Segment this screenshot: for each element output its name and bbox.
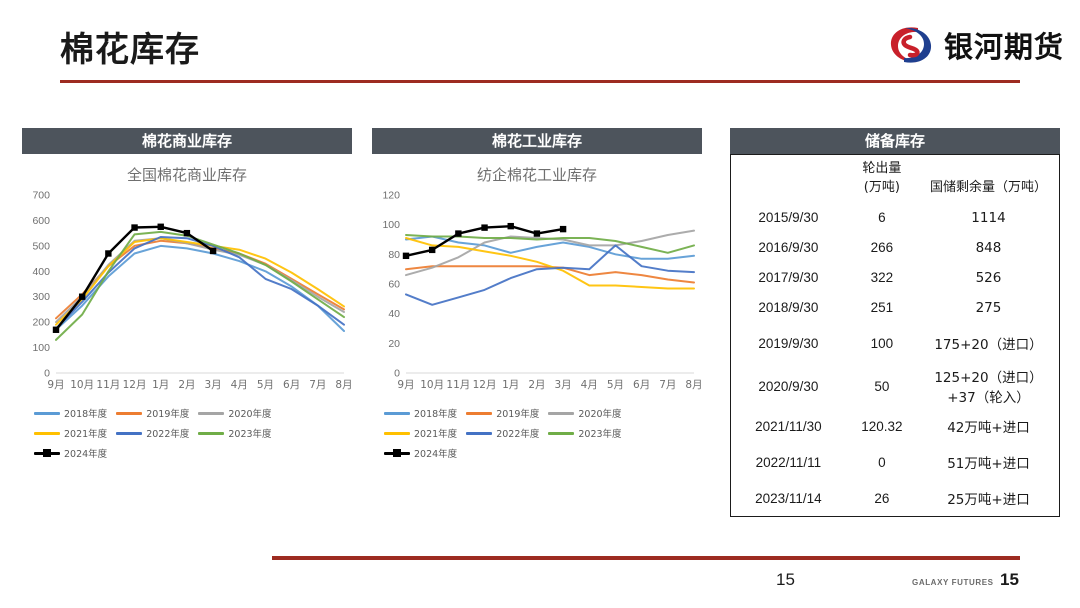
legend-item: 2023年度 — [198, 426, 271, 440]
brand-name: 银河期货 — [944, 24, 1064, 66]
x-axis-tick-label: 8月 — [685, 379, 702, 391]
cell-turnout-volume: 100 — [846, 322, 918, 364]
x-axis-tick-label: 7月 — [309, 379, 326, 391]
y-axis-tick-label: 120 — [382, 190, 400, 202]
y-axis-tick-label: 400 — [32, 266, 50, 278]
table-row: 2022/11/11051万吨+进口 — [731, 444, 1059, 480]
x-axis-tick-label: 10月 — [70, 379, 94, 391]
reserve-table: 轮出量 (万吨) 国储剩余量（万吨） 2015/9/30611142016/9/… — [731, 155, 1059, 516]
page-number-center: 15 — [776, 570, 795, 590]
cell-remaining-reserve: 42万吨+进口 — [918, 408, 1059, 444]
footer-brand-latin: GALAXY FUTURES — [912, 578, 994, 587]
cell-date: 2018/9/30 — [731, 293, 846, 323]
series-marker — [53, 327, 59, 333]
legend-item: 2019年度 — [116, 406, 189, 420]
legend-label: 2018年度 — [414, 406, 457, 420]
panel-reserve-inventory: 储备库存 轮出量 (万吨) 国储剩余量（万吨） 2015/9 — [730, 128, 1060, 517]
series-marker — [105, 250, 111, 256]
series-marker — [184, 230, 190, 236]
legend-swatch-icon — [384, 452, 410, 455]
y-axis-tick-label: 100 — [382, 219, 400, 231]
cell-turnout-volume: 266 — [846, 233, 918, 263]
cell-remaining-line: 848 — [920, 240, 1057, 256]
x-axis-tick-label: 2月 — [528, 379, 545, 391]
legend-item: 2022年度 — [466, 426, 539, 440]
table-row: 2019/9/30100175+20（进口） — [731, 322, 1059, 364]
x-axis-tick-label: 5月 — [607, 379, 624, 391]
cell-remaining-line: +37（轮入） — [920, 386, 1057, 406]
chart-commercial-legend: 2018年度2019年度2020年度2021年度2022年度2023年度2024… — [22, 402, 352, 466]
x-axis-tick-label: 1月 — [152, 379, 169, 391]
cell-turnout-volume: 6 — [846, 203, 918, 233]
cell-date: 2017/9/30 — [731, 263, 846, 293]
chart-industrial-plot: 0204060801001209月10月11月12月1月2月3月4月5月6月7月… — [372, 187, 702, 402]
cell-remaining-reserve: 25万吨+进口 — [918, 480, 1059, 516]
legend-swatch-icon — [34, 452, 60, 455]
legend-item: 2023年度 — [548, 426, 621, 440]
cell-remaining-reserve: 1114 — [918, 203, 1059, 233]
series-marker — [403, 253, 409, 259]
legend-swatch-icon — [384, 412, 410, 415]
series-marker — [79, 294, 85, 300]
x-axis-tick-label: 4月 — [231, 379, 248, 391]
panel-industrial-body: 纺企棉花工业库存 0204060801001209月10月11月12月1月2月3… — [372, 164, 702, 466]
page-number-right: 15 — [1000, 570, 1019, 590]
legend-label: 2021年度 — [414, 426, 457, 440]
legend-swatch-icon — [198, 412, 224, 415]
cell-remaining-reserve: 175+20（进口） — [918, 322, 1059, 364]
legend-label: 2019年度 — [146, 406, 189, 420]
panel-commercial-inventory: 棉花商业库存 全国棉花商业库存 01002003004005006007009月… — [22, 128, 352, 466]
legend-swatch-icon — [34, 412, 60, 415]
x-axis-tick-label: 9月 — [47, 379, 64, 391]
y-axis-tick-label: 100 — [32, 342, 50, 354]
table-row: 2017/9/30322526 — [731, 263, 1059, 293]
cell-remaining-line: 526 — [920, 270, 1057, 286]
legend-swatch-icon — [548, 412, 574, 415]
x-axis-tick-label: 12月 — [123, 379, 147, 391]
legend-label: 2018年度 — [64, 406, 107, 420]
cell-remaining-reserve: 125+20（进口）+37（轮入） — [918, 364, 1059, 408]
legend-swatch-icon — [116, 432, 142, 435]
reserve-table-head: 轮出量 (万吨) 国储剩余量（万吨） — [731, 155, 1059, 203]
x-axis-tick-label: 3月 — [204, 379, 221, 391]
series-marker — [210, 248, 216, 254]
table-row: 2018/9/30251275 — [731, 293, 1059, 323]
cell-date: 2021/11/30 — [731, 408, 846, 444]
legend-label: 2023年度 — [578, 426, 621, 440]
legend-label: 2024年度 — [414, 446, 457, 460]
x-axis-tick-label: 11月 — [446, 379, 470, 391]
chart-commercial-plot: 01002003004005006007009月10月11月12月1月2月3月4… — [22, 187, 352, 402]
col-header-date — [731, 155, 846, 203]
chart-industrial-title: 纺企棉花工业库存 — [372, 164, 702, 185]
legend-swatch-icon — [198, 432, 224, 435]
cell-date: 2020/9/30 — [731, 364, 846, 408]
reserve-table-container: 轮出量 (万吨) 国储剩余量（万吨） 2015/9/30611142016/9/… — [730, 154, 1060, 517]
y-axis-tick-label: 0 — [394, 368, 400, 380]
legend-label: 2020年度 — [228, 406, 271, 420]
col-header-turnout: 轮出量 (万吨) — [846, 155, 918, 203]
cell-remaining-line: 1114 — [920, 210, 1057, 226]
legend-label: 2019年度 — [496, 406, 539, 420]
legend-item: 2021年度 — [384, 426, 457, 440]
col-header-turnout-line1: 轮出量 — [848, 157, 916, 176]
cell-remaining-line: 275 — [920, 300, 1057, 316]
legend-label: 2021年度 — [64, 426, 107, 440]
panel-commercial-body: 全国棉花商业库存 01002003004005006007009月10月11月1… — [22, 164, 352, 466]
series-marker — [508, 223, 514, 229]
cell-turnout-volume: 120.32 — [846, 408, 918, 444]
x-axis-tick-label: 2月 — [178, 379, 195, 391]
cell-turnout-volume: 322 — [846, 263, 918, 293]
legend-swatch-icon — [466, 432, 492, 435]
panel-reserve-body: 轮出量 (万吨) 国储剩余量（万吨） 2015/9/30611142016/9/… — [730, 154, 1060, 517]
x-axis-tick-label: 6月 — [633, 379, 650, 391]
legend-item: 2020年度 — [198, 406, 271, 420]
y-axis-tick-label: 20 — [388, 338, 400, 350]
reserve-table-body: 2015/9/30611142016/9/302668482017/9/3032… — [731, 203, 1059, 516]
table-header-row: 轮出量 (万吨) 国储剩余量（万吨） — [731, 155, 1059, 203]
col-header-turnout-line2: (万吨) — [848, 176, 916, 195]
legend-item: 2024年度 — [34, 446, 107, 460]
cell-remaining-line: 175+20（进口） — [920, 333, 1057, 353]
chart-industrial-legend: 2018年度2019年度2020年度2021年度2022年度2023年度2024… — [372, 402, 702, 466]
header-divider — [60, 80, 1020, 83]
col-header-remaining: 国储剩余量（万吨） — [918, 155, 1059, 203]
legend-label: 2022年度 — [146, 426, 189, 440]
cell-date: 2019/9/30 — [731, 322, 846, 364]
cell-remaining-line: 25万吨+进口 — [920, 488, 1057, 508]
legend-swatch-icon — [116, 412, 142, 415]
cell-turnout-volume: 0 — [846, 444, 918, 480]
x-axis-tick-label: 8月 — [335, 379, 352, 391]
cell-remaining-reserve: 275 — [918, 293, 1059, 323]
x-axis-tick-label: 12月 — [473, 379, 497, 391]
cell-remaining-reserve: 848 — [918, 233, 1059, 263]
table-row: 2015/9/3061114 — [731, 203, 1059, 233]
x-axis-tick-label: 11月 — [96, 379, 120, 391]
legend-item: 2022年度 — [116, 426, 189, 440]
series-marker — [481, 224, 487, 230]
cell-remaining-line: 42万吨+进口 — [920, 416, 1057, 436]
cell-remaining-line: 125+20（进口） — [920, 366, 1057, 386]
x-axis-tick-label: 10月 — [420, 379, 444, 391]
slide-root: 棉花库存 银河期货 棉花商业库存 全国棉花商业库存 01002003004005… — [0, 0, 1080, 608]
legend-item: 2020年度 — [548, 406, 621, 420]
legend-item: 2019年度 — [466, 406, 539, 420]
y-axis-tick-label: 40 — [388, 308, 400, 320]
cell-date: 2023/11/14 — [731, 480, 846, 516]
series-marker — [158, 224, 164, 230]
y-axis-tick-label: 200 — [32, 317, 50, 329]
cell-date: 2016/9/30 — [731, 233, 846, 263]
legend-item: 2018年度 — [384, 406, 457, 420]
y-axis-tick-label: 700 — [32, 190, 50, 202]
panel-commercial-header: 棉花商业库存 — [22, 128, 352, 154]
table-row: 2020/9/3050125+20（进口）+37（轮入） — [731, 364, 1059, 408]
chart-commercial-title: 全国棉花商业库存 — [22, 164, 352, 185]
x-axis-tick-label: 6月 — [283, 379, 300, 391]
legend-label: 2023年度 — [228, 426, 271, 440]
legend-swatch-icon — [466, 412, 492, 415]
x-axis-tick-label: 7月 — [659, 379, 676, 391]
footer-divider — [272, 556, 1020, 560]
cell-remaining-reserve: 526 — [918, 263, 1059, 293]
cell-date: 2022/11/11 — [731, 444, 846, 480]
cell-remaining-line: 51万吨+进口 — [920, 452, 1057, 472]
y-axis-tick-label: 80 — [388, 249, 400, 261]
series-marker — [429, 247, 435, 253]
y-axis-tick-label: 300 — [32, 291, 50, 303]
cell-turnout-volume: 26 — [846, 480, 918, 516]
cell-turnout-volume: 251 — [846, 293, 918, 323]
panel-industrial-inventory: 棉花工业库存 纺企棉花工业库存 0204060801001209月10月11月1… — [372, 128, 702, 466]
x-axis-tick-label: 3月 — [554, 379, 571, 391]
legend-item: 2024年度 — [384, 446, 457, 460]
legend-item: 2021年度 — [34, 426, 107, 440]
legend-label: 2024年度 — [64, 446, 107, 460]
series-line — [406, 245, 694, 304]
y-axis-tick-label: 500 — [32, 240, 50, 252]
legend-item: 2018年度 — [34, 406, 107, 420]
y-axis-tick-label: 60 — [388, 279, 400, 291]
x-axis-tick-label: 4月 — [581, 379, 598, 391]
galaxy-futures-logo-icon — [888, 24, 934, 66]
legend-label: 2022年度 — [496, 426, 539, 440]
series-marker — [560, 226, 566, 232]
table-row: 2021/11/30120.3242万吨+进口 — [731, 408, 1059, 444]
legend-label: 2020年度 — [578, 406, 621, 420]
series-marker — [534, 230, 540, 236]
panel-industrial-header: 棉花工业库存 — [372, 128, 702, 154]
series-marker — [131, 224, 137, 230]
legend-swatch-icon — [548, 432, 574, 435]
cell-turnout-volume: 50 — [846, 364, 918, 408]
panel-reserve-header: 储备库存 — [730, 128, 1060, 154]
cell-date: 2015/9/30 — [731, 203, 846, 233]
table-row: 2016/9/30266848 — [731, 233, 1059, 263]
x-axis-tick-label: 1月 — [502, 379, 519, 391]
brand-logo: 银河期货 — [888, 24, 1064, 66]
table-row: 2023/11/142625万吨+进口 — [731, 480, 1059, 516]
y-axis-tick-label: 600 — [32, 215, 50, 227]
legend-swatch-icon — [384, 432, 410, 435]
page-title: 棉花库存 — [60, 22, 200, 71]
x-axis-tick-label: 9月 — [397, 379, 414, 391]
series-marker — [455, 230, 461, 236]
x-axis-tick-label: 5月 — [257, 379, 274, 391]
legend-swatch-icon — [34, 432, 60, 435]
y-axis-tick-label: 0 — [44, 368, 50, 380]
cell-remaining-reserve: 51万吨+进口 — [918, 444, 1059, 480]
